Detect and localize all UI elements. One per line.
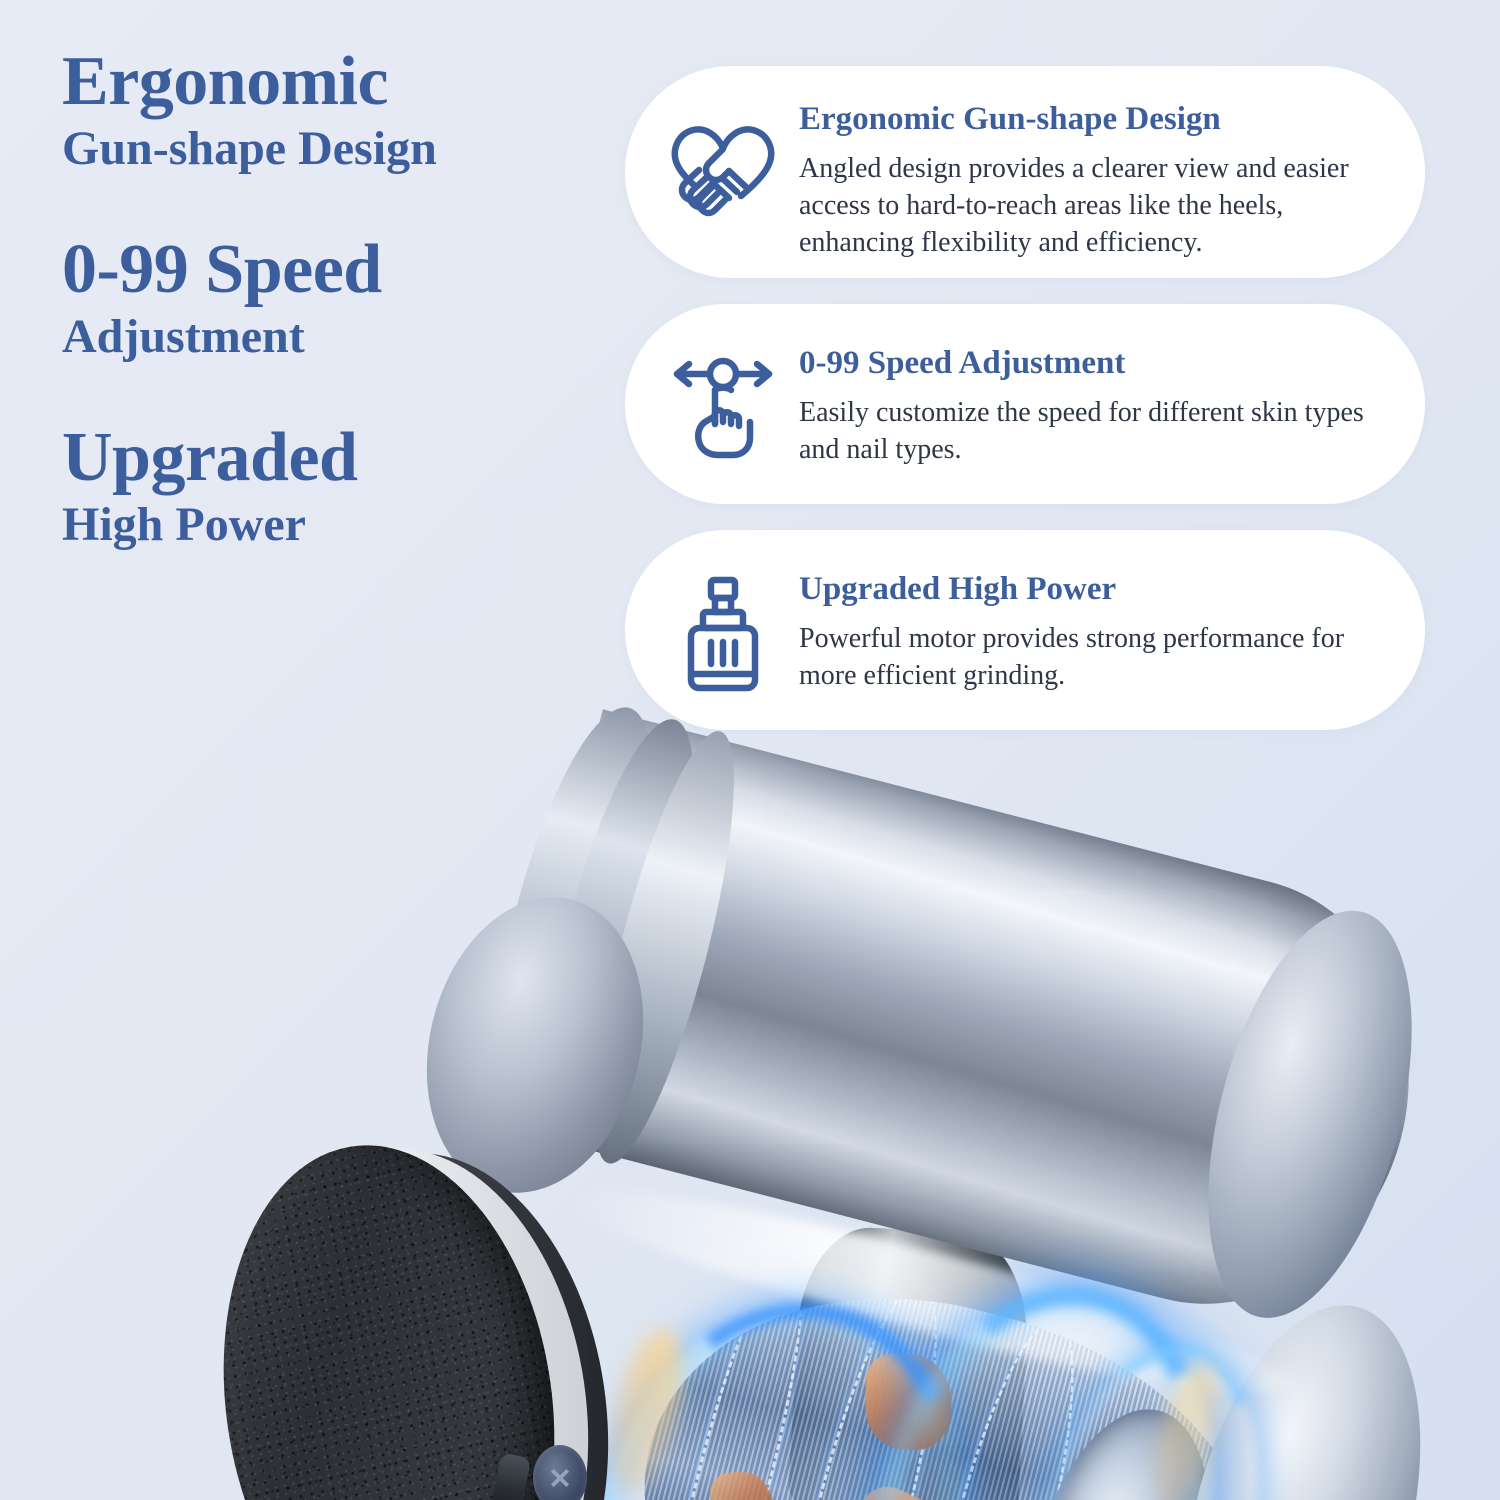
device-head bbox=[397, 874, 673, 1216]
device-handle bbox=[788, 1224, 1032, 1500]
disc-rim bbox=[215, 1115, 627, 1500]
feature-card-text: Upgraded High Power Powerful motor provi… bbox=[787, 560, 1379, 694]
motor-xray-window bbox=[596, 1239, 1304, 1500]
feature-card-text: 0-99 Speed Adjustment Easily customize t… bbox=[787, 334, 1379, 468]
copper-winding bbox=[865, 1353, 952, 1450]
amber-flare bbox=[596, 1321, 695, 1500]
barrel-endcap bbox=[1171, 889, 1450, 1339]
rotor-band bbox=[642, 1241, 829, 1500]
feature-title: 0-99 Speed Adjustment bbox=[799, 344, 1379, 384]
rotor-core bbox=[996, 1390, 1240, 1500]
collar-ring-c bbox=[567, 721, 762, 1174]
feature-title: Upgraded High Power bbox=[799, 570, 1379, 610]
disc-backing-ring bbox=[235, 1119, 647, 1500]
headline-block-2: 0-99 Speed Adjustment bbox=[62, 234, 602, 366]
headline-main-2: 0-99 Speed bbox=[62, 234, 602, 305]
device-barrel bbox=[369, 677, 1445, 1344]
energy-glow-ring bbox=[548, 1263, 1011, 1500]
feature-card-ergonomic-design: Ergonomic Gun-shape Design Angled design… bbox=[625, 66, 1425, 278]
power-button bbox=[903, 1443, 1003, 1500]
collar-ring-b bbox=[513, 707, 725, 1165]
speed-slider-hand-icon bbox=[659, 344, 787, 472]
rotor-band bbox=[762, 1272, 966, 1500]
copper-winding bbox=[831, 1478, 960, 1500]
copper-winding bbox=[708, 1469, 777, 1500]
headline-main-1: Ergonomic bbox=[62, 46, 602, 117]
barrel-top-highlight bbox=[562, 1161, 1298, 1424]
barrel-end-highlight bbox=[1143, 1280, 1461, 1500]
feature-card-text: Ergonomic Gun-shape Design Angled design… bbox=[787, 96, 1379, 261]
feature-body: Powerful motor provides strong performan… bbox=[799, 620, 1379, 694]
disc-release-tab bbox=[491, 1452, 532, 1500]
headline-sub-3: High Power bbox=[62, 497, 602, 554]
energy-glow-ring bbox=[995, 1321, 1296, 1500]
feature-body: Easily customize the speed for different… bbox=[799, 394, 1379, 468]
headline-column: Ergonomic Gun-shape Design 0-99 Speed Ad… bbox=[62, 46, 602, 554]
headline-block-1: Ergonomic Gun-shape Design bbox=[62, 46, 602, 178]
feature-title: Ergonomic Gun-shape Design bbox=[799, 100, 1379, 140]
feature-body: Angled design provides a clearer view an… bbox=[799, 150, 1379, 262]
headline-block-3: Upgraded High Power bbox=[62, 422, 602, 554]
handshake-heart-icon bbox=[659, 106, 787, 234]
amber-flare bbox=[1143, 1358, 1232, 1500]
grinding-disc bbox=[185, 1111, 593, 1500]
rotor-band bbox=[896, 1306, 1104, 1500]
feature-card-speed-adjustment: 0-99 Speed Adjustment Easily customize t… bbox=[625, 304, 1425, 504]
head-badge-icon bbox=[533, 1445, 587, 1500]
barrel-body bbox=[495, 709, 1455, 1346]
headline-sub-2: Adjustment bbox=[62, 309, 602, 366]
motor-icon bbox=[659, 570, 787, 698]
headline-sub-1: Gun-shape Design bbox=[62, 121, 602, 178]
feature-card-list: Ergonomic Gun-shape Design Angled design… bbox=[625, 66, 1425, 756]
feature-card-high-power: Upgraded High Power Powerful motor provi… bbox=[625, 530, 1425, 730]
collar-ring-a bbox=[460, 693, 686, 1154]
energy-glow-ring bbox=[822, 1249, 1260, 1500]
headline-main-3: Upgraded bbox=[62, 422, 602, 493]
